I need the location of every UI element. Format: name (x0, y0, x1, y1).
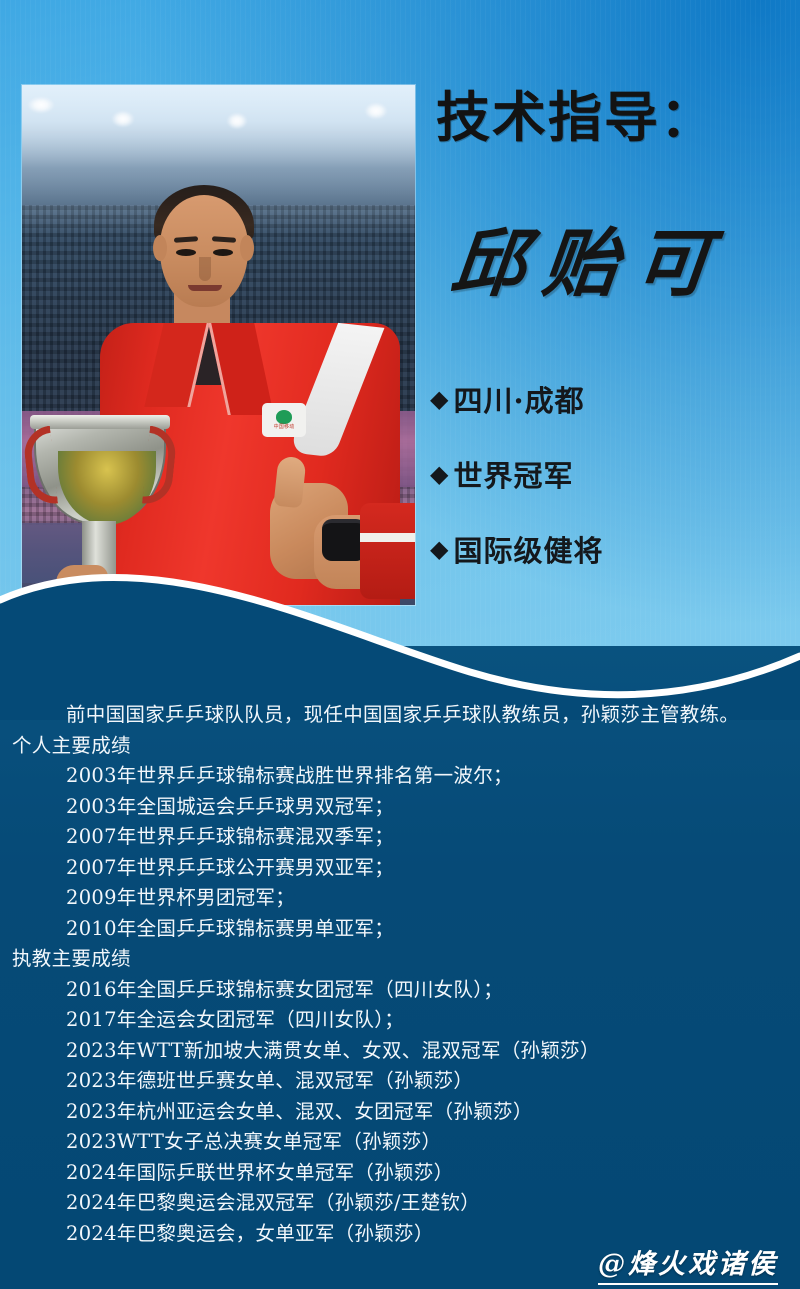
person-eye-right (213, 249, 233, 256)
credential-item-hometown: ◆ 四川·成都 (430, 378, 770, 420)
bio-item: 2010年全国乒乒球锦标赛男单亚军； (12, 914, 788, 945)
sponsor-emblem-icon (276, 410, 292, 424)
credential-list: ◆ 四川·成都 ◆ 世界冠军 ◆ 国际级健将 (430, 378, 770, 603)
credential-item-world-champion: ◆ 世界冠军 (430, 453, 770, 495)
thumbs-up-icon (273, 456, 306, 509)
diamond-bullet-icon: ◆ (430, 537, 449, 561)
bio-item: 2024年巴黎奥运会混双冠军（孙颖莎/王楚钦） (12, 1188, 788, 1219)
credential-label: 四川·成都 (453, 378, 584, 420)
credential-label: 世界冠军 (453, 453, 573, 495)
bio-section-heading-coaching: 执教主要成绩 (12, 944, 788, 975)
trophy (28, 415, 178, 605)
coach-name: 邱贻可 (446, 204, 733, 311)
bio-item: 2017年全运会女团冠军（四川女队）； (12, 1005, 788, 1036)
bio-item: 2003年世界乒乒球锦标赛战胜世界排名第一波尔； (12, 761, 788, 792)
poster-root: 中国移动 (0, 0, 800, 1289)
bio-item: 2016年全国乒乒球锦标赛女团冠军（四川女队）； (12, 975, 788, 1006)
jacket-sponsor-logo: 中国移动 (262, 403, 306, 437)
person-ear-left (153, 235, 167, 261)
jacket-sleeve-cuff (360, 503, 415, 599)
bio-item: 2003年全国城运会乒乒球男双冠军； (12, 792, 788, 823)
page-title: 技术指导： (436, 88, 716, 147)
diamond-bullet-icon: ◆ (430, 387, 449, 411)
bio-item: 2023年德班世乒赛女单、混双冠军（孙颖莎） (12, 1066, 788, 1097)
jacket-sleeve-stripe (360, 533, 415, 542)
photo-person: 中国移动 (22, 85, 415, 605)
bio-item: 2024年国际乒联世界杯女单冠军（孙颖莎） (12, 1158, 788, 1189)
bio-intro: 前中国国家乒乒球队队员，现任中国国家乒乒球队教练员，孙颖莎主管教练。 (12, 700, 788, 731)
watermark: @烽火戏诸侯 (598, 1242, 778, 1285)
person-mouth (188, 285, 222, 291)
bio-item: 2023年WTT新加坡大满贯女单、女双、混双冠军（孙颖莎） (12, 1036, 788, 1067)
bio-item: 2023年杭州亚运会女单、混双、女团冠军（孙颖莎） (12, 1097, 788, 1128)
coach-photo: 中国移动 (22, 85, 415, 605)
bio-item: 2023WTT女子总决赛女单冠军（孙颖莎） (12, 1127, 788, 1158)
person-hand-holding-trophy (56, 565, 108, 605)
trophy-bowl-inner (58, 451, 156, 525)
credential-label: 国际级健将 (453, 528, 603, 570)
diamond-bullet-icon: ◆ (430, 462, 449, 486)
bio-item: 2009年世界杯男团冠军； (12, 883, 788, 914)
bio-item: 2007年世界乒乒球锦标赛混双季军； (12, 822, 788, 853)
bio-section-heading-personal: 个人主要成绩 (12, 731, 788, 762)
biography-text: 前中国国家乒乒球队队员，现任中国国家乒乒球队教练员，孙颖莎主管教练。 个人主要成… (12, 700, 788, 1249)
sponsor-logo-text: 中国移动 (274, 425, 295, 430)
bio-item: 2007年世界乒乒球公开赛男双亚军； (12, 853, 788, 884)
person-nose (199, 257, 211, 281)
person-eye-left (176, 249, 196, 256)
credential-item-international-athlete: ◆ 国际级健将 (430, 528, 770, 570)
person-ear-right (240, 235, 254, 261)
